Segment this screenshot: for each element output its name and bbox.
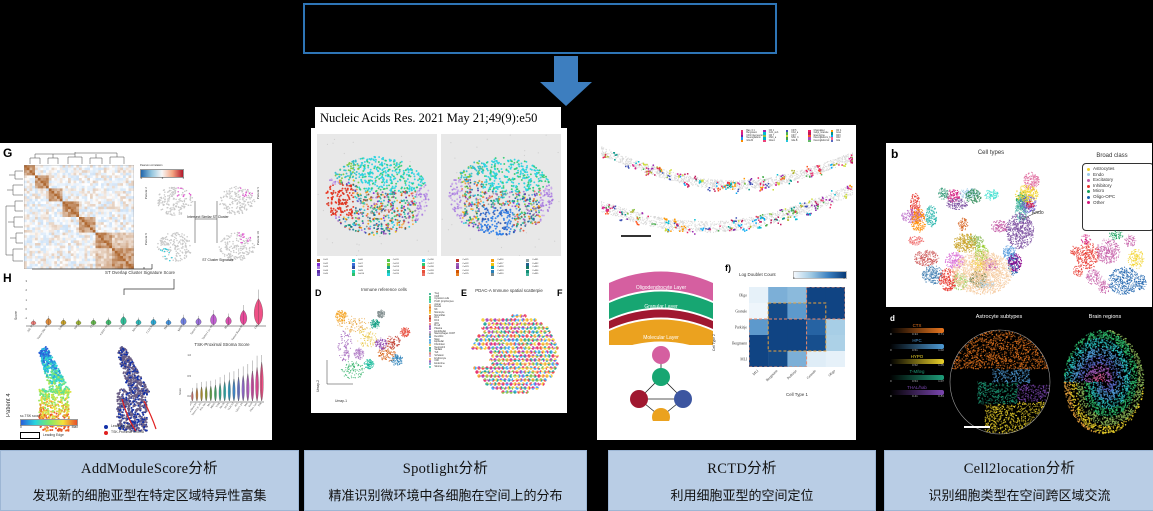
legend-label: Glia M xyxy=(746,140,753,142)
scale-bar xyxy=(621,235,651,237)
colorbar-ticks: 00.541.07 xyxy=(890,380,944,383)
legend-label: Cell16 xyxy=(428,259,434,261)
doublet-heatmap-col-labels: MLIBergmannPurkinjeGranuleOligo xyxy=(749,368,845,392)
tissue-scale-bar xyxy=(964,426,990,428)
legend-item: Cell20 xyxy=(422,273,457,276)
colorbar-group-t-m-teg: T-M/teg00.541.07 xyxy=(890,370,944,382)
sc-tsk-colorbar-group: sc-TSK score 0Max Leading Edge xyxy=(20,415,78,439)
legend-label: Cell9 xyxy=(358,270,363,272)
legend-column: Cell1Cell2Cell3Cell4Cell5 xyxy=(317,259,352,283)
colorbar-ticks: 00.410.83 xyxy=(890,395,944,398)
colorbar-ticks: 00.340.71 xyxy=(890,333,944,336)
legend-swatch xyxy=(456,273,459,276)
doublet-heatmap-ylabel: Cell Type 2 xyxy=(713,305,716,351)
legend-column: Cell16Cell17Cell18Cell19Cell20 xyxy=(422,259,457,283)
tissue-map-leading-edge xyxy=(100,339,178,437)
figure-card-addmodulescore: G Pearson correlation -101 xyxy=(0,143,272,440)
celltype-graph-diagram xyxy=(619,343,703,421)
correlation-heatmap xyxy=(24,165,134,269)
legend-swatch xyxy=(317,273,320,276)
caption-sub-rctd: 利用细胞亚型的空间定位 xyxy=(670,485,813,504)
legend-label: Cell21 xyxy=(462,259,468,261)
legend-label: Cell30 xyxy=(497,273,503,275)
svg-text:Endo: Endo xyxy=(118,323,124,330)
svg-text:PDC: PDC xyxy=(74,324,80,330)
axis-tick: 0.0 xyxy=(187,396,191,399)
legend-label: Cell32 xyxy=(532,263,538,265)
legend-label: Cell8 xyxy=(358,266,363,268)
legend-label: Cell1 xyxy=(323,259,328,261)
legend-column: CR 4GranCR3CR2Glia xyxy=(831,130,853,160)
legend-label: Cell4 xyxy=(323,270,328,272)
violin-ylabel: Score xyxy=(15,288,18,320)
caption-title-addmodulescore: AddModuleScore分析 xyxy=(81,457,218,478)
svg-text:CD34+ KC: CD34+ KC xyxy=(99,324,109,336)
svg-text:Tumor Cyc. KC: Tumor Cyc. KC xyxy=(202,324,215,341)
legend-swatch xyxy=(741,140,743,142)
colorbar-ticks: 00.511.02 xyxy=(890,349,944,352)
legend-column: CR 5CA3_aCR 7NSC_bGlia B xyxy=(786,130,808,160)
svg-text:Tumor Ltd: Tumor Ltd xyxy=(190,323,200,335)
broad-class-title: Broad class xyxy=(1082,153,1142,159)
legend-swatch xyxy=(786,140,788,142)
legend-label: Cell19 xyxy=(428,270,434,272)
legend-swatch xyxy=(491,273,494,276)
violin-title: ST Overlap Cluster Signature Score xyxy=(60,271,220,275)
brain-section-right xyxy=(441,134,561,256)
column-dendrogram xyxy=(24,151,134,165)
legend-dot-inhibitory xyxy=(1087,185,1090,188)
legend-label: Cell7 xyxy=(358,263,363,265)
legend-item: Cell25 xyxy=(456,273,491,276)
legend-item: Cell15 xyxy=(387,273,422,276)
legend-item: Glia A xyxy=(763,140,785,142)
celltype-legend-grid: Cell1Cell2Cell3Cell4Cell5Cell6Cell7Cell8… xyxy=(317,259,561,283)
umap-title-celltypes: Cell types xyxy=(936,150,1046,156)
doublet-heatmap-row-labels: OligoGranulePurkinjeBergmannMLI xyxy=(719,287,749,367)
violin-plot-signature-score xyxy=(26,281,266,327)
svg-text:Patient 2: Patient 2 xyxy=(145,187,148,199)
broad-class-legend: AstrocytesEndoExcitatoryInhibitoryMicroO… xyxy=(1082,163,1152,231)
panel-label-f: F xyxy=(557,288,563,298)
legend-label: Cell2 xyxy=(323,263,328,265)
legend-dot-excitatory xyxy=(1087,179,1090,182)
umap-title-immune: Immune reference cells xyxy=(339,288,429,292)
legend-dot-micro xyxy=(1087,190,1090,193)
caption-rctd: RCTD分析 利用细胞亚型的空间定位 xyxy=(608,450,876,511)
sc-tsk-colorbar-ticks: 0Max xyxy=(20,426,78,429)
axis-tick: 1.0 xyxy=(187,355,191,358)
legend-label: Cell10 xyxy=(358,273,364,275)
colorbar-ticks: 00.521.05 xyxy=(890,364,944,367)
svg-text:Patient 9: Patient 9 xyxy=(145,233,148,245)
legend-label: Cell34 xyxy=(532,270,538,272)
legend-label: Cell15 xyxy=(393,273,399,275)
axis-tick: 0 xyxy=(26,309,27,312)
legend-dot-endo xyxy=(1087,173,1090,176)
svg-text:Adi. SC: Adi. SC xyxy=(27,324,35,333)
tissue-legend: Leading Edge TSK-Proximal Stroma xyxy=(104,425,144,435)
legend-item: Glia B xyxy=(786,140,808,142)
figure-card-cell2location-umap: b Cell types Endo Broad class Astrocytes… xyxy=(886,143,1152,307)
doublet-heatmap-xlabel: Cell Type 1 xyxy=(749,393,845,397)
legend-dot-oligo-opc xyxy=(1087,196,1090,199)
legend-column: Cell11Cell12Cell13Cell14Cell15 xyxy=(387,259,422,283)
legend-item: Astrocytes xyxy=(1087,167,1149,172)
leading-edge-swatch xyxy=(20,432,40,439)
legend-item: Cell30 xyxy=(491,273,526,276)
svg-text:CLEC9A: CLEC9A xyxy=(146,324,155,334)
svg-text:Tumor Basal KC: Tumor Basal KC xyxy=(231,324,244,341)
leading-edge-label: Leading Edge xyxy=(43,434,64,437)
svg-text:TSK: TSK xyxy=(254,324,259,330)
sc-tsk-colorbar-label: sc-TSK score xyxy=(20,415,78,418)
legend-label-other: Other xyxy=(1093,201,1105,206)
legend-label: Cell20 xyxy=(428,273,434,275)
caption-sub-cell2location: 识别细胞类型在空间跨区域交流 xyxy=(928,485,1110,504)
caption-title-spotlight: Spotlight分析 xyxy=(403,457,488,478)
legend-column: Cell6Cell7Cell8Cell9Cell10 xyxy=(352,259,387,283)
legend-label: Glia B xyxy=(791,140,797,142)
arrow-down-icon xyxy=(536,56,596,108)
legend-dot-tsk-stroma xyxy=(104,431,108,435)
rctd-celltype-legend: Bas. 0 1BergmannCR1 InterneuronNeuroglia… xyxy=(741,130,853,160)
legend-column: Bas. 0 1BergmannCR1 InterneuronNeuroglia… xyxy=(741,130,763,160)
legend-dot xyxy=(429,366,431,368)
legend-item: Cell5 xyxy=(317,273,352,276)
legend-label-oligo-opc: Oligo-OPC xyxy=(1093,195,1115,200)
intersect-similar-note: Intersect Similar ST Cluster xyxy=(170,216,246,219)
svg-text:CC: CC xyxy=(90,324,95,329)
umap-celltypes-scatter xyxy=(894,161,1074,303)
axis-tick: 0.5 xyxy=(187,376,191,379)
brain-section-left xyxy=(317,134,437,256)
tissue-astrocyte-subtypes xyxy=(946,324,1058,438)
stroma-violin-title: TSK-Proximal Stroma Score xyxy=(176,343,268,347)
legend-label: Cell22 xyxy=(462,263,468,265)
figure-card-cell2location-tissue: d Astrocyte subtypes Brain regions CTX00… xyxy=(886,312,1152,440)
stroma-violin-yticks: 1.00.50.0 xyxy=(183,355,191,399)
cerebellum-layer-diagram: Oligodendrocyte LayerGranular LayerPurki… xyxy=(605,265,717,345)
legend-swatch xyxy=(831,140,833,142)
svg-text:Tumor Ditt. KC: Tumor Ditt. KC xyxy=(37,324,50,340)
legend-item: Neurogliaform2 xyxy=(808,140,830,142)
tissue-brain-regions xyxy=(1060,324,1150,438)
violin-yticks: 3210-1 xyxy=(19,281,27,321)
legend-label: Cell18 xyxy=(428,266,434,268)
umap-xlabel-immune: Umap-1 xyxy=(335,400,347,403)
axis-tick: 2 xyxy=(26,290,27,293)
legend-label: Cell23 xyxy=(462,266,468,268)
svg-text:NK-2N: NK-2N xyxy=(132,324,139,333)
legend-label-leading-edge: Leading Edge xyxy=(111,425,132,428)
axis-tick: 3 xyxy=(26,281,27,284)
legend-item: Cell10 xyxy=(352,273,387,276)
svg-text:SMC: SMC xyxy=(163,324,169,331)
panel-label-f-rctd: f) xyxy=(725,263,731,273)
figure-card-rctd: Bas. 0 1BergmannCR1 InterneuronNeuroglia… xyxy=(597,125,856,440)
legend-item: Oligo-OPC xyxy=(1087,195,1149,200)
patient-label: Patient 4 xyxy=(6,357,12,417)
colorbar-group-hpc: HPC00.511.02 xyxy=(890,339,944,351)
legend-swatch xyxy=(387,273,390,276)
legend-label: Cell27 xyxy=(497,263,503,265)
legend-item: Other xyxy=(1087,201,1149,206)
caption-addmodulescore: AddModuleScore分析 发现新的细胞亚型在特定区域特异性富集 xyxy=(0,450,299,511)
caption-sub-addmodulescore: 发现新的细胞亚型在特定区域特异性富集 xyxy=(32,485,266,504)
doublet-count-heatmap xyxy=(749,287,845,367)
umap-annotation-endo: Endo xyxy=(1032,211,1044,216)
tissue-title-brainregions: Brain regions xyxy=(1062,315,1148,321)
doublet-heatmap-title: Log Doublet Count xyxy=(739,273,776,277)
legend-column: CR 1CA1_subCR 7NSC_aGlia A xyxy=(763,130,785,160)
caption-cell2location: Cell2location分析 识别细胞类型在空间跨区域交流 xyxy=(884,450,1153,511)
scatterpie-title: PDAC-A Immune spatial scatterpie xyxy=(473,288,545,294)
legend-swatch xyxy=(763,140,765,142)
legend-swatch xyxy=(422,273,425,276)
legend-label: Cell11 xyxy=(393,259,399,261)
pearson-colorbar-title: Pearson correlation xyxy=(140,165,184,168)
doublet-colorbar-ticks: 08 xyxy=(793,278,845,281)
region-colorbars: CTX00.340.71HPC00.511.02HYPO00.521.05T-M… xyxy=(890,324,944,436)
legend-label: Cell3 xyxy=(323,266,328,268)
svg-text:Patient 5: Patient 5 xyxy=(256,187,260,199)
legend-label: Cell33 xyxy=(532,266,538,268)
svg-text:TSK: TSK xyxy=(257,402,262,408)
legend-label: Cell29 xyxy=(497,270,503,272)
row-dendrogram xyxy=(3,165,24,269)
panel-label-b: b xyxy=(891,147,898,161)
legend-column: Cell21Cell22Cell23Cell24Cell25 xyxy=(456,259,491,283)
legend-item: Stroma xyxy=(429,366,463,368)
legend-column: ChandelierGolgi_GranuleEpendymaNeuroglia… xyxy=(808,130,830,160)
legend-label: Cell14 xyxy=(393,270,399,272)
umap-ylabel-immune: Umap-2 xyxy=(317,356,320,392)
legend-label: Cell26 xyxy=(497,259,503,261)
pdac-scatterpie xyxy=(463,308,563,400)
legend-swatch xyxy=(352,273,355,276)
caption-title-cell2location: Cell2location分析 xyxy=(964,457,1076,478)
tissue-title-astrocyte: Astrocyte subtypes xyxy=(944,315,1054,321)
legend-label-astrocytes: Astrocytes xyxy=(1093,167,1114,172)
legend-label: Cell25 xyxy=(462,273,468,275)
title-box xyxy=(303,3,777,54)
citation-label: Nucleic Acids Res. 2021 May 21;49(9):e50 xyxy=(315,107,561,129)
svg-text:MDSC: MDSC xyxy=(177,324,184,332)
colorbar-label: T-M/teg xyxy=(890,370,944,374)
legend-label: Cell12 xyxy=(393,263,399,265)
caption-title-rctd: RCTD分析 xyxy=(707,457,776,478)
stroma-violin-xticks: Tumor Diff. KCTumor Basal KCTumor Cyc. K… xyxy=(190,401,264,431)
legend-item: Glia xyxy=(831,140,853,142)
legend-label: Cell5 xyxy=(323,273,328,275)
colorbar-group-hypo: HYPO00.521.05 xyxy=(890,355,944,367)
svg-text:Mac: Mac xyxy=(224,323,230,329)
legend-swatch xyxy=(526,273,529,276)
caption-spotlight: Spotlight分析 精准识别微环境中各细胞在空间上的分布 xyxy=(304,450,587,511)
axis-tick: -1 xyxy=(25,318,27,321)
legend-label: Neurogliaform2 xyxy=(814,140,830,142)
legend-label-tsk-stroma: TSK-Proximal Stroma xyxy=(111,431,144,434)
legend-column: Cell31Cell32Cell33Cell34Cell35 xyxy=(526,259,561,283)
figure-card-spotlight: Cell1Cell2Cell3Cell4Cell5Cell6Cell7Cell8… xyxy=(311,128,567,413)
violin-plot-stroma-score xyxy=(190,355,264,403)
legend-item: Cell35 xyxy=(526,273,561,276)
legend-item: Glia M xyxy=(741,140,763,142)
legend-label: Cell13 xyxy=(393,266,399,268)
umap-broadclass-scatter xyxy=(1064,225,1150,303)
legend-label: Cell31 xyxy=(532,259,538,261)
panel-label-d: D xyxy=(315,288,322,298)
axis-tick: 1 xyxy=(26,300,27,303)
caption-sub-spotlight: 精准识别微环境中各细胞在空间上的分布 xyxy=(328,485,562,504)
legend-column: Cell26Cell27Cell28Cell29Cell30 xyxy=(491,259,526,283)
legend-label: Glia A xyxy=(769,140,775,142)
legend-label: Cell28 xyxy=(497,266,503,268)
colorbar-group-thal-hab: THAL/hab00.410.83 xyxy=(890,386,944,398)
legend-dot-leading-edge xyxy=(104,425,108,429)
panel-label-d-c2l: d xyxy=(890,314,895,323)
colorbar-group-ctx: CTX00.340.71 xyxy=(890,324,944,336)
panel-label-g: G xyxy=(3,146,12,160)
legend-dot-other xyxy=(1087,201,1090,204)
legend-swatch xyxy=(808,140,810,142)
legend-label: Stroma xyxy=(434,366,441,368)
pearson-colorbar-group: Pearson correlation -101 xyxy=(140,165,184,180)
umap-immune-reference xyxy=(323,298,427,398)
legend-label: Cell24 xyxy=(462,270,468,272)
svg-text:T-NK: T-NK xyxy=(58,324,64,331)
umap-celltype-legend: TregCD8Cytotoxic cellsProlif. lymphocyte… xyxy=(429,293,463,401)
legend-label: Cell35 xyxy=(532,273,538,275)
sc-tsk-colorbar xyxy=(20,419,78,426)
panel-label-h: H xyxy=(3,271,12,285)
panel-label-e: E xyxy=(461,288,467,298)
legend-label: Cell6 xyxy=(358,259,363,261)
legend-label: Cell17 xyxy=(428,263,434,265)
legend-label: Glia xyxy=(836,140,840,142)
legend-dot-astrocytes xyxy=(1087,168,1090,171)
svg-text:Patient 10: Patient 10 xyxy=(256,231,260,245)
